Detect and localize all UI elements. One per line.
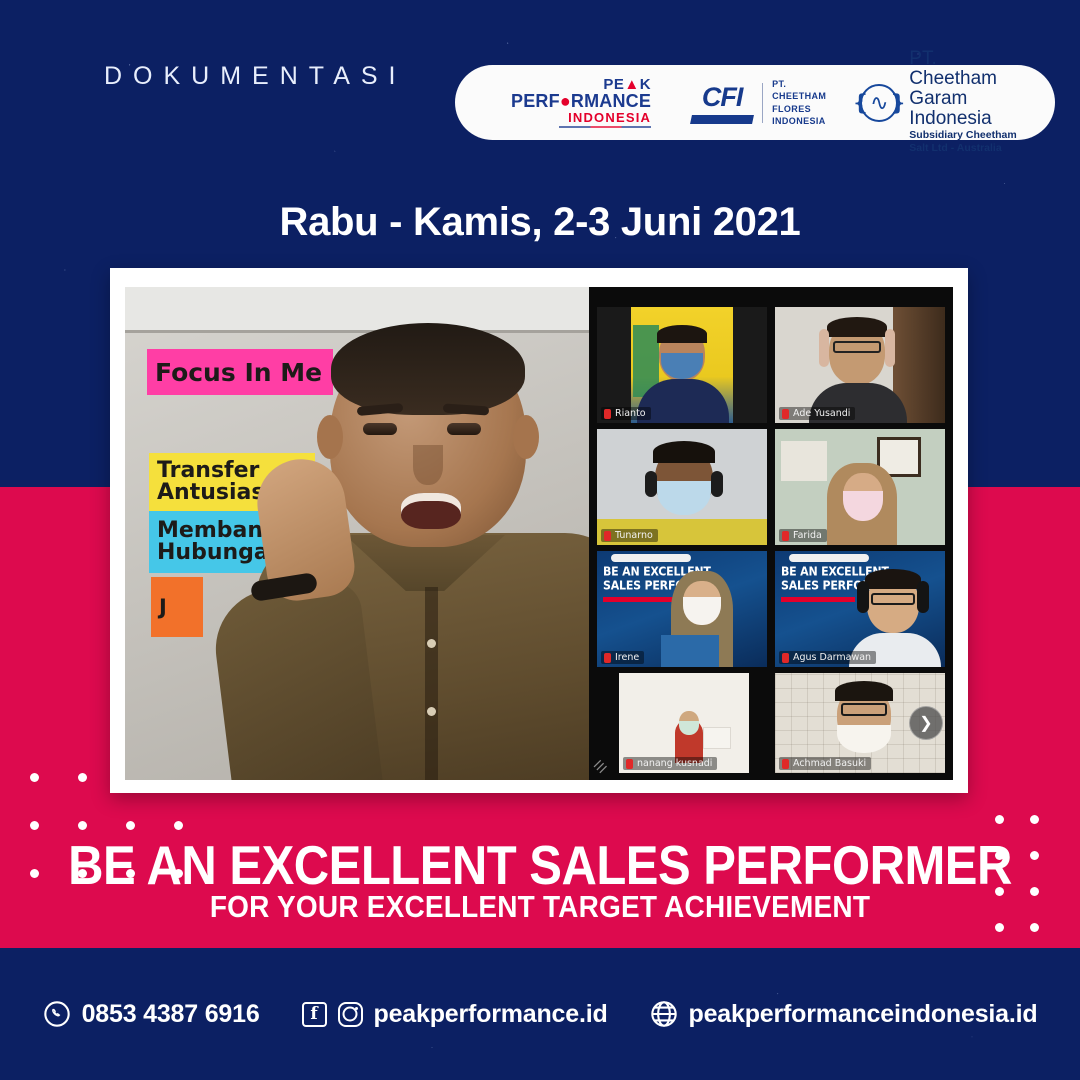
participant-name-tag: nanang kusnadi bbox=[623, 757, 717, 770]
footer-website-text: peakperformanceindonesia.id bbox=[689, 1000, 1038, 1029]
facebook-icon: f bbox=[302, 1002, 327, 1027]
instagram-icon bbox=[338, 1002, 363, 1027]
participant-tile[interactable]: BE AN EXCELLENT SALES PERFORMER Agus Dar… bbox=[775, 551, 945, 667]
participant-gallery: Rianto Ade Yusandi bbox=[589, 287, 953, 780]
participant-tile[interactable]: Ade Yusandi bbox=[775, 307, 945, 423]
speaker-eye bbox=[363, 423, 397, 435]
cheetham-subtitle: Subsidiary Cheetham Salt Ltd - Australia bbox=[909, 129, 1029, 156]
sticky-note-transfer-line1: Transfer bbox=[157, 460, 259, 482]
mic-muted-icon bbox=[604, 653, 611, 663]
speaker-ear bbox=[317, 415, 343, 459]
event-date: Rabu - Kamis, 2-3 Juni 2021 bbox=[0, 200, 1080, 245]
participant-name-tag: Farida bbox=[779, 529, 827, 542]
cfi-sub-line-2: CHEETHAM bbox=[772, 90, 826, 102]
mic-muted-icon bbox=[782, 653, 789, 663]
speaker-ear bbox=[513, 415, 539, 459]
footer-social[interactable]: f peakperformance.id bbox=[302, 1000, 608, 1029]
cfi-sub-line-3: FLORES bbox=[772, 103, 826, 115]
participant-tile[interactable]: nanang kusnadi bbox=[619, 673, 749, 773]
mic-muted-icon bbox=[604, 531, 611, 541]
speaker-arm bbox=[209, 579, 383, 780]
participant-name-tag: Rianto bbox=[601, 407, 651, 420]
mic-muted-icon bbox=[782, 531, 789, 541]
footer-contact-bar: 0853 4387 6916 f peakperformance.id peak… bbox=[0, 948, 1080, 1080]
page-kicker: DOKUMENTASI bbox=[104, 62, 407, 91]
speaker-video-pane: Focus In Me Transfer Antusiasme Membangu… bbox=[125, 287, 589, 780]
participant-name-tag: Achmad Basuki bbox=[779, 757, 871, 770]
participant-tile[interactable]: Rianto bbox=[597, 307, 767, 423]
mic-muted-icon bbox=[604, 409, 611, 419]
speaker-placket bbox=[425, 587, 438, 780]
globe-icon bbox=[650, 1000, 678, 1028]
sticky-note-focus: Focus In Me bbox=[147, 349, 333, 395]
whatsapp-icon bbox=[43, 1000, 71, 1028]
peak-logo-line2: PERF●RMANCE bbox=[511, 92, 651, 110]
participant-tile[interactable]: BE AN EXCELLENT SALES PERFORMER Irene bbox=[597, 551, 767, 667]
page-title: BE AN EXCELLENT SALES PERFORMER bbox=[0, 835, 1080, 898]
participant-tile[interactable]: Farida bbox=[775, 429, 945, 545]
cfi-sub-line-4: INDONESIA bbox=[772, 115, 826, 127]
chevron-right-icon[interactable]: ❯ bbox=[909, 706, 943, 740]
participant-name-tag: Irene bbox=[601, 651, 644, 664]
cfi-mark: CFI bbox=[691, 82, 753, 124]
speaker-nose bbox=[413, 445, 443, 485]
zoom-meeting-screenshot: Focus In Me Transfer Antusiasme Membangu… bbox=[125, 287, 953, 780]
photo-frame: Focus In Me Transfer Antusiasme Membangu… bbox=[110, 268, 968, 793]
peak-logo-line3: INDONESIA bbox=[568, 111, 651, 124]
peak-performance-logo: PE▲K PERF●RMANCE INDONESIA bbox=[511, 77, 651, 128]
speaker-hair bbox=[331, 323, 525, 415]
cheetham-logo: ❴∿❵ PT. Cheetham Garam Indonesia Subsidi… bbox=[860, 49, 1029, 156]
participant-tile[interactable]: Tunarno bbox=[597, 429, 767, 545]
footer-website[interactable]: peakperformanceindonesia.id bbox=[650, 1000, 1038, 1029]
cfi-logo: CFI PT. CHEETHAM FLORES INDONESIA bbox=[691, 78, 826, 128]
poster-canvas: DOKUMENTASI PE▲K PERF●RMANCE INDONESIA C… bbox=[0, 0, 1080, 1080]
cfi-subtext: PT. CHEETHAM FLORES INDONESIA bbox=[772, 78, 826, 128]
cfi-divider bbox=[762, 83, 763, 123]
cfi-bar bbox=[690, 115, 754, 124]
sticky-note-orange: J bbox=[151, 577, 203, 637]
cfi-wordmark: CFI bbox=[702, 82, 743, 113]
seahorse-icon: ❴∿❵ bbox=[860, 84, 898, 122]
footer-phone[interactable]: 0853 4387 6916 bbox=[43, 1000, 260, 1029]
resize-handle-icon[interactable]: ☰ bbox=[591, 757, 611, 777]
participant-name-tag: Ade Yusandi bbox=[779, 407, 855, 420]
cheetham-title: PT. Cheetham Garam Indonesia bbox=[909, 49, 1029, 129]
mic-muted-icon bbox=[626, 759, 633, 769]
page-subtitle: FOR YOUR EXCELLENT TARGET ACHIEVEMENT bbox=[0, 889, 1080, 924]
mic-muted-icon bbox=[782, 759, 789, 769]
speaker-button bbox=[427, 639, 436, 648]
speaker-mouth bbox=[401, 493, 461, 529]
participant-name-tag: Agus Darmawan bbox=[779, 651, 876, 664]
cfi-sub-line-1: PT. bbox=[772, 78, 826, 90]
peak-logo-line1: PE▲K bbox=[603, 77, 651, 92]
footer-phone-text: 0853 4387 6916 bbox=[82, 1000, 260, 1029]
peak-logo-rule bbox=[559, 126, 651, 128]
footer-social-text: peakperformance.id bbox=[374, 1000, 608, 1029]
speaker-eye bbox=[447, 423, 481, 435]
logo-bar: PE▲K PERF●RMANCE INDONESIA CFI PT. CHEET… bbox=[455, 65, 1055, 140]
mic-muted-icon bbox=[782, 409, 789, 419]
speaker-button bbox=[427, 707, 436, 716]
participant-name-tag: Tunarno bbox=[601, 529, 658, 542]
